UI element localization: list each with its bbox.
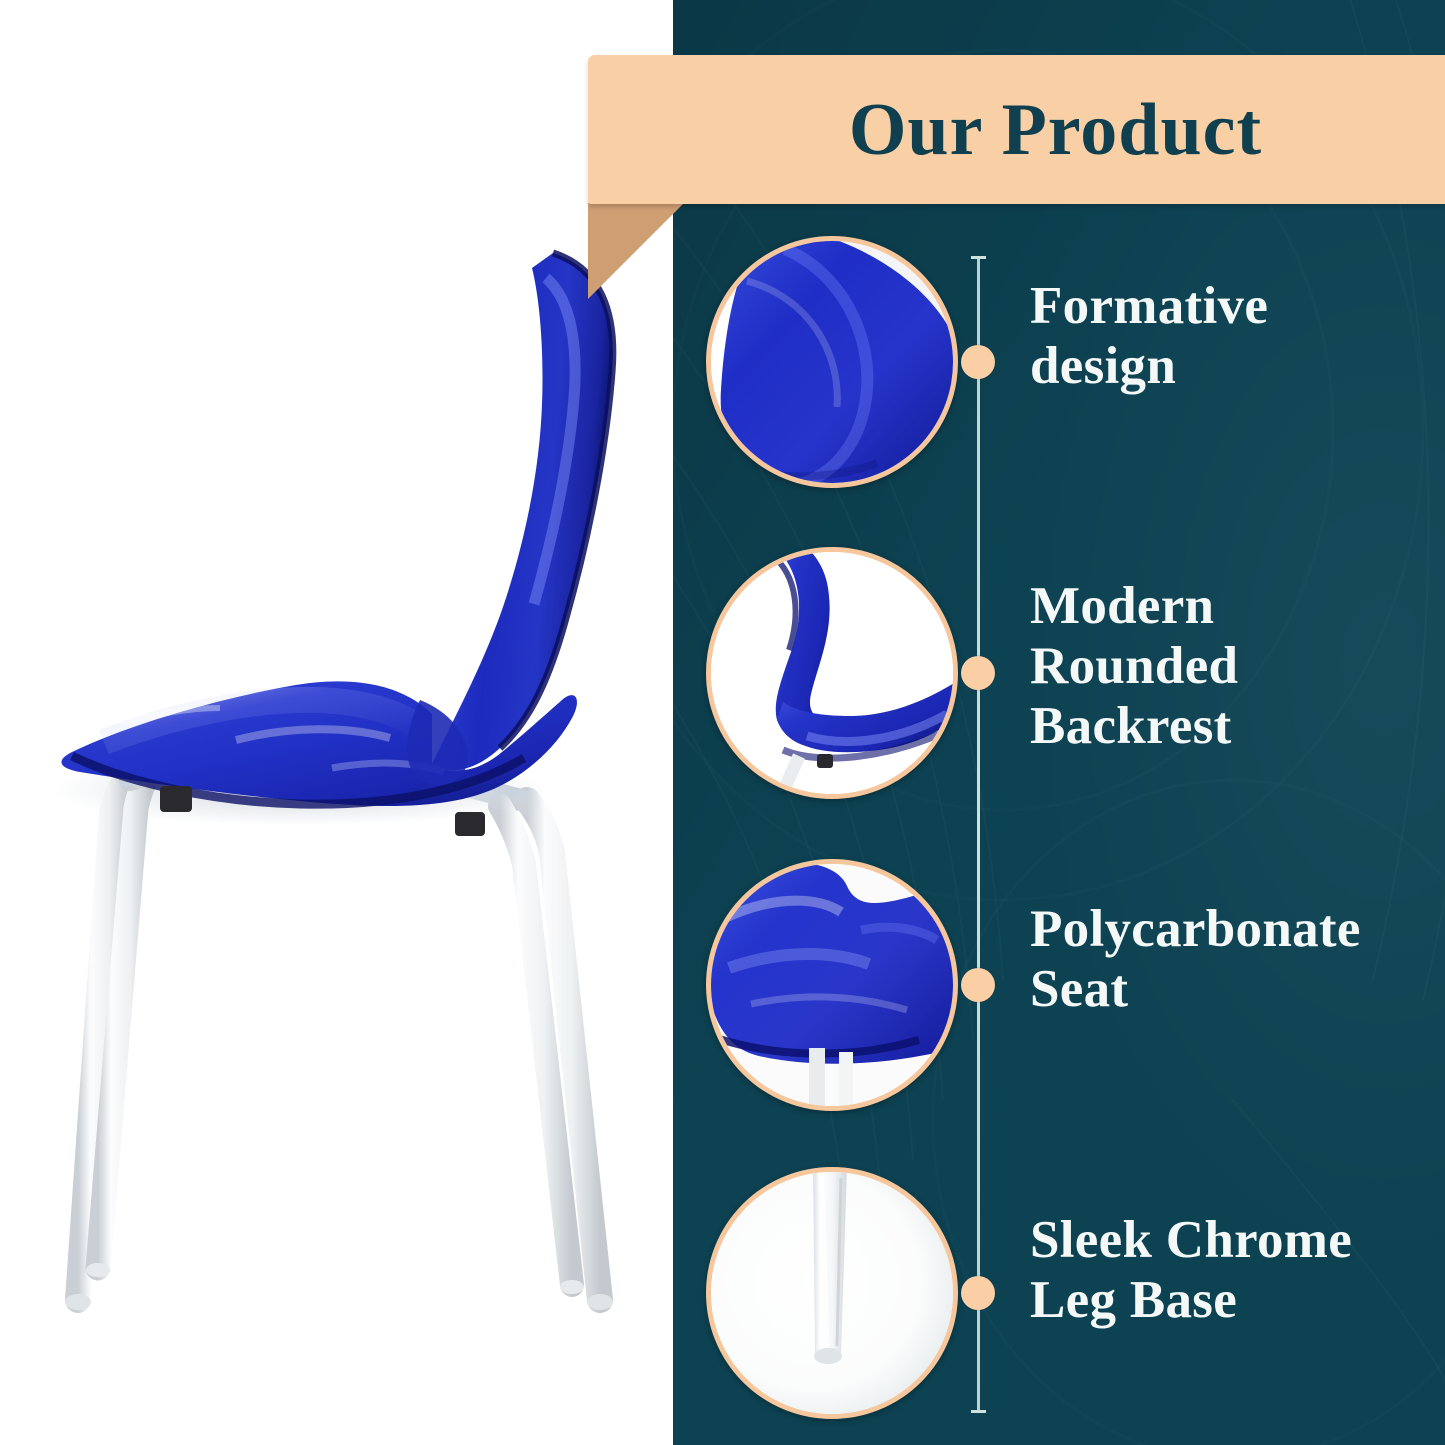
- title-ribbon: Our Product: [588, 55, 1445, 270]
- feature-dot-2: [961, 656, 995, 690]
- feature-label-line: Seat: [1030, 960, 1361, 1020]
- polycarbonate-seat-thumbnail[interactable]: [706, 859, 958, 1111]
- modern-rounded-backrest-thumbnail[interactable]: [706, 547, 958, 799]
- feature-dot-1: [961, 345, 995, 379]
- feature-label-line: Backrest: [1030, 697, 1238, 757]
- sleek-chrome-leg-base-thumbnail[interactable]: [706, 1167, 958, 1419]
- feature-label-line: Polycarbonate: [1030, 900, 1361, 960]
- product-chair-illustration: [0, 0, 673, 1445]
- infographic-page: Formative design: [0, 0, 1445, 1445]
- feature-label-line: Formative: [1030, 277, 1268, 337]
- feature-label-line: Modern: [1030, 577, 1238, 637]
- ribbon-bar: Our Product: [588, 55, 1445, 204]
- product-image-panel: [0, 0, 673, 1445]
- feature-dot-3: [961, 968, 995, 1002]
- seat-bracket: [160, 786, 192, 812]
- timeline-bottom-cap: [971, 1410, 986, 1413]
- seat-bracket: [455, 812, 485, 836]
- feature-label-line: Leg Base: [1030, 1271, 1352, 1331]
- formative-design-thumbnail[interactable]: [706, 236, 958, 488]
- feature-dot-4: [961, 1276, 995, 1310]
- page-title: Our Product: [771, 93, 1262, 167]
- feature-label-2: Modern Rounded Backrest: [1030, 577, 1238, 757]
- feature-label-line: design: [1030, 337, 1268, 397]
- feature-timeline-line: [977, 256, 980, 1413]
- feature-label-3: Polycarbonate Seat: [1030, 900, 1361, 1020]
- feature-label-line: Rounded: [1030, 637, 1238, 697]
- ribbon-fold-shadow: [588, 203, 684, 299]
- feature-label-line: Sleek Chrome: [1030, 1211, 1352, 1271]
- feature-label-4: Sleek Chrome Leg Base: [1030, 1211, 1352, 1331]
- feature-label-1: Formative design: [1030, 277, 1268, 397]
